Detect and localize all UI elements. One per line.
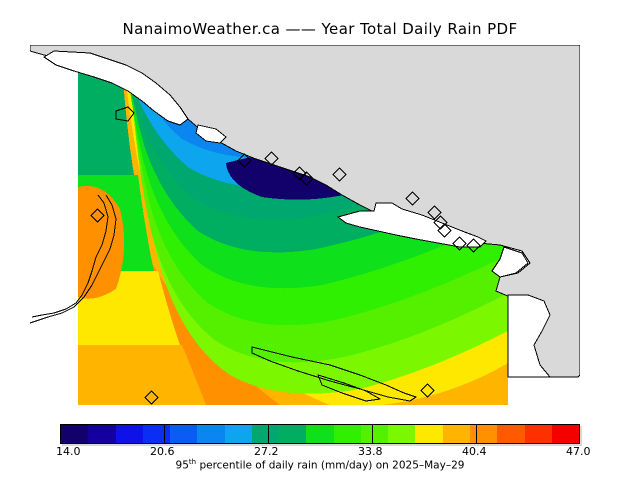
colorbar-segment-2 [116, 425, 143, 443]
colorbar-segment-12 [388, 425, 415, 443]
colorbar-label-5: 47.0 [566, 445, 591, 458]
colorbar-segment-16 [497, 425, 524, 443]
page-title: NanaimoWeather.ca —— Year Total Daily Ra… [0, 20, 640, 38]
colorbar-segment-5 [197, 425, 224, 443]
weather-map-page: NanaimoWeather.ca —— Year Total Daily Ra… [0, 0, 640, 480]
caption-rest: percentile of daily rain (mm/day) on 202… [196, 460, 464, 472]
colorbar-segment-8 [279, 425, 306, 443]
caption-prefix: 95 [176, 460, 189, 472]
colorbar-segment-17 [525, 425, 552, 443]
colorbar-gradient[interactable] [60, 424, 580, 444]
contour-map[interactable] [30, 45, 580, 415]
colorbar-legend: 14.0 20.6 27.2 33.8 40.4 47.0 95th perce… [30, 422, 610, 478]
colorbar-segment-3 [143, 425, 170, 443]
colorbar-segment-18 [552, 425, 579, 443]
colorbar-label-4: 40.4 [462, 445, 487, 458]
colorbar-segment-13 [415, 425, 442, 443]
colorbar-segment-10 [334, 425, 361, 443]
colorbar-label-0: 14.0 [56, 445, 81, 458]
colorbar-segment-9 [306, 425, 333, 443]
colorbar-segment-7 [252, 425, 279, 443]
colorbar-segment-0 [61, 425, 88, 443]
colorbar-segment-6 [225, 425, 252, 443]
colorbar-caption: 95th percentile of daily rain (mm/day) o… [30, 458, 610, 472]
colorbar-segment-11 [361, 425, 388, 443]
colorbar-segment-14 [443, 425, 470, 443]
colorbar-label-1: 20.6 [150, 445, 175, 458]
colorbar-label-2: 27.2 [254, 445, 279, 458]
colorbar-label-3: 33.8 [358, 445, 383, 458]
map-panel[interactable] [30, 45, 580, 415]
colorbar-tick-labels: 14.0 20.6 27.2 33.8 40.4 47.0 [30, 445, 610, 459]
colorbar-segment-15 [470, 425, 497, 443]
colorbar-segment-4 [170, 425, 197, 443]
colorbar-segment-1 [88, 425, 115, 443]
